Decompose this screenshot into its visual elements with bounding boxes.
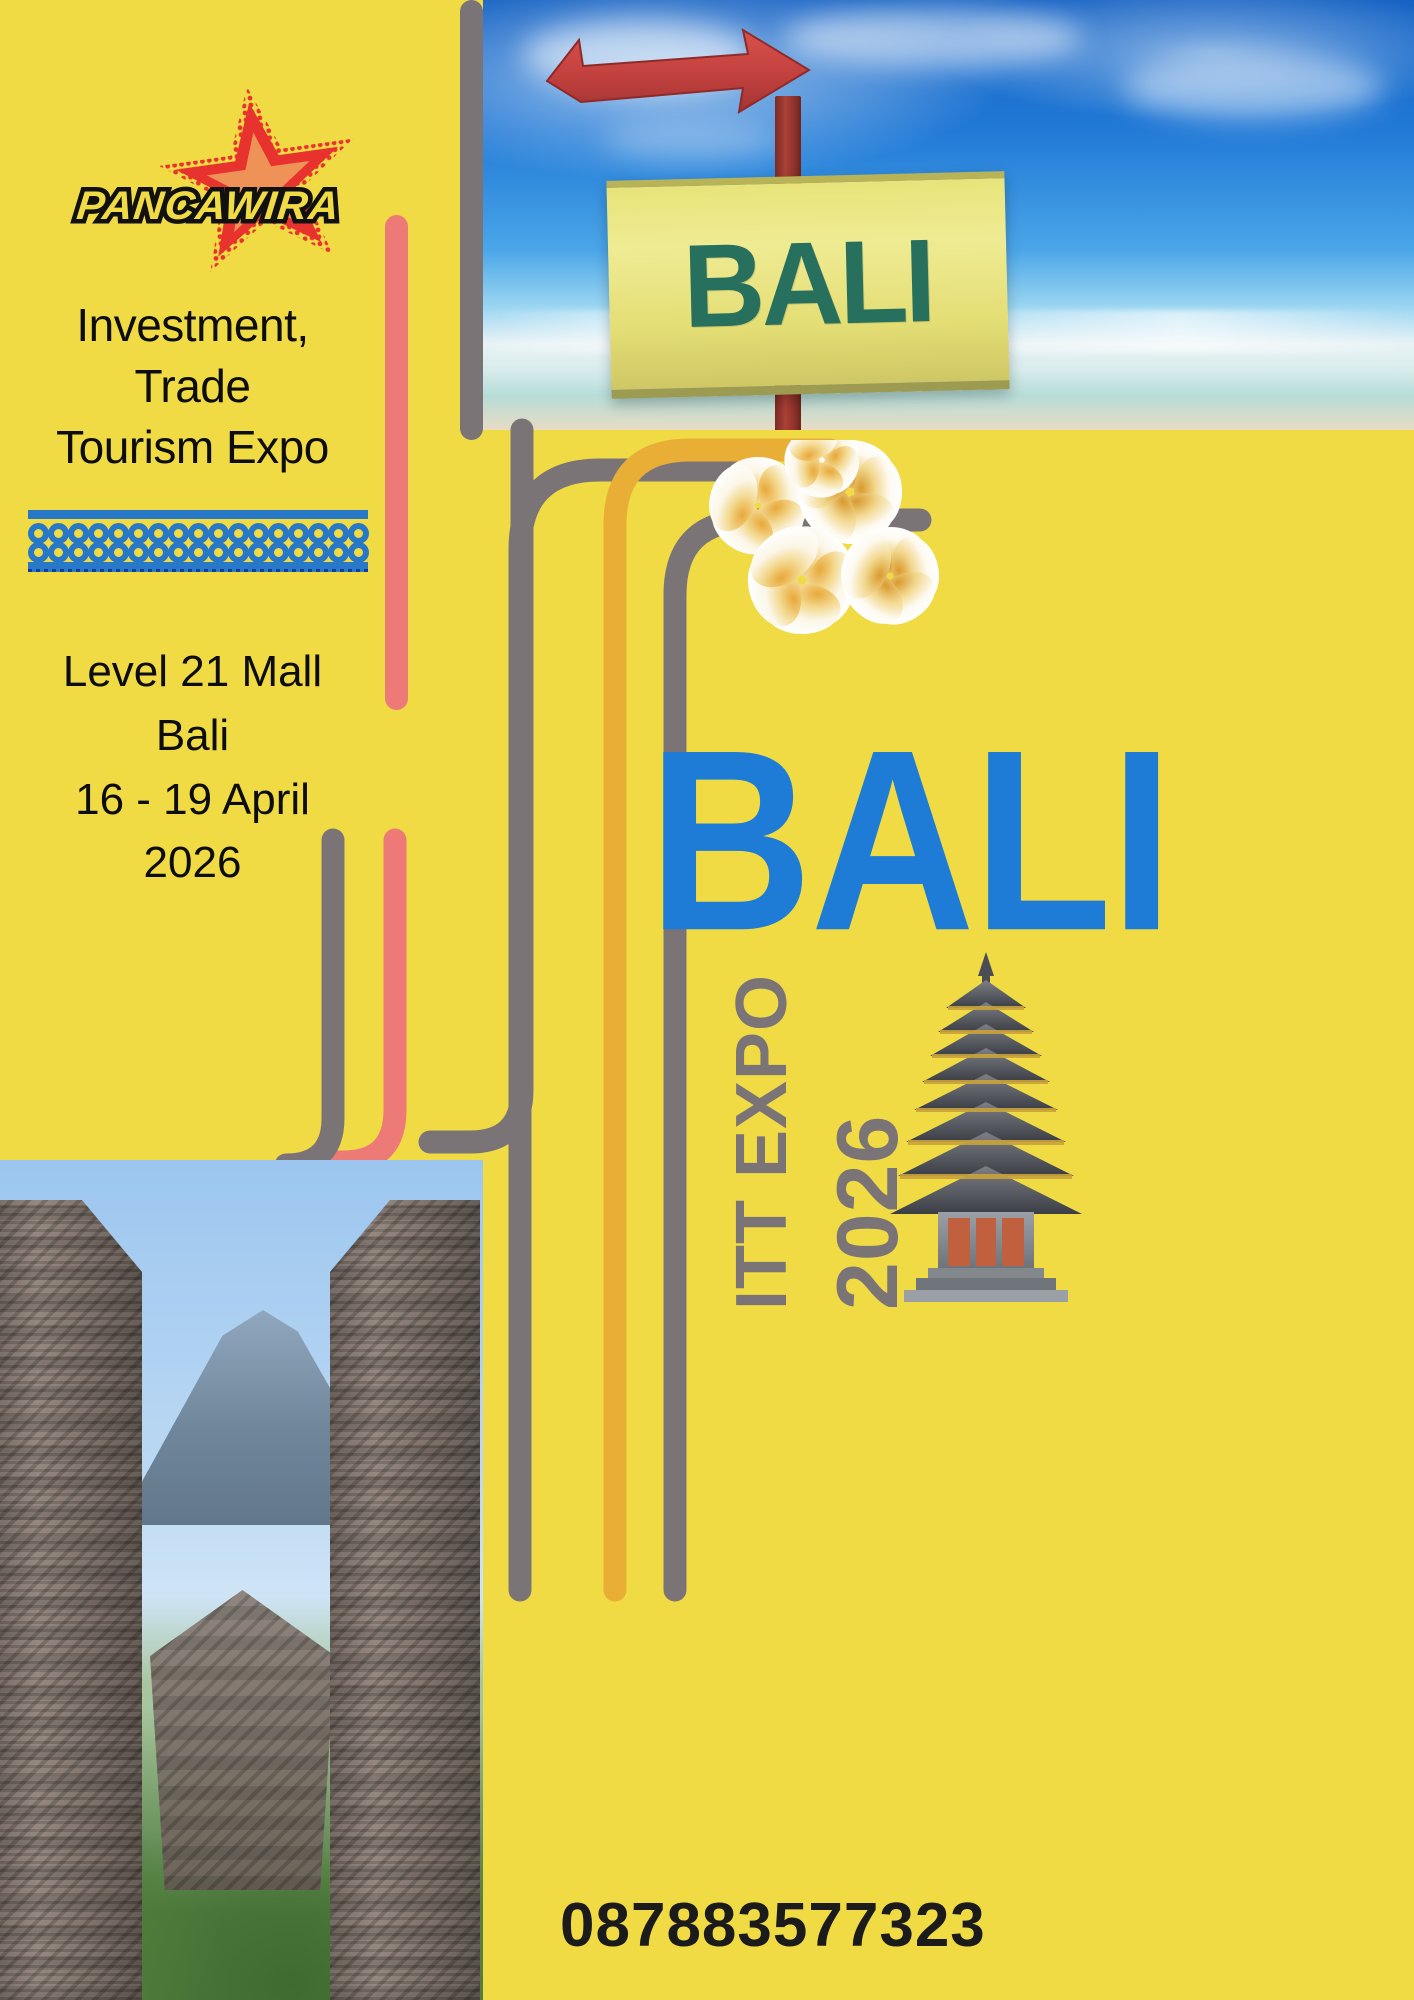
signboard-text: BALI: [682, 222, 934, 346]
pattern-ring: [148, 542, 169, 563]
pattern-ring: [328, 523, 349, 544]
star-icon: [160, 80, 360, 280]
temple-gate-photo: [0, 1160, 483, 2000]
cloud-shape: [603, 120, 783, 160]
brand-wordmark: PANCAWIRA: [75, 184, 343, 229]
headline-block: Investment, Trade Tourism Expo: [0, 295, 385, 479]
temple-gate-left: [0, 1200, 142, 2000]
pattern-checker-strip: [28, 565, 368, 572]
contact-phone-number[interactable]: 087883577323: [560, 1890, 986, 1961]
pattern-ring: [108, 542, 129, 563]
pattern-ring: [228, 523, 249, 544]
pattern-ring: [248, 542, 269, 563]
poster-canvas: BALI: [0, 0, 1414, 2000]
pattern-ring: [88, 523, 109, 544]
pattern-ring: [28, 542, 49, 563]
pattern-ring: [328, 542, 349, 563]
temple-shrine-shape: [150, 1590, 335, 1890]
pattern-ring: [188, 542, 209, 563]
balinese-pagoda-icon: [876, 950, 1096, 1310]
cloud-shape: [783, 8, 1083, 68]
pattern-ring: [128, 523, 149, 544]
pattern-ring: [68, 523, 89, 544]
frangipani-flowers-icon: [672, 440, 952, 690]
big-bali-title: BALI: [648, 712, 1171, 970]
decorative-pattern-band: [28, 510, 368, 572]
pattern-ring: [208, 523, 229, 544]
pattern-ring: [288, 542, 309, 563]
pattern-ring: [168, 523, 189, 544]
cloud-shape: [1123, 55, 1383, 120]
pattern-ring: [148, 523, 169, 544]
pattern-ring: [248, 523, 269, 544]
pattern-ring: [208, 542, 229, 563]
pattern-ring: [88, 542, 109, 563]
carving-texture: [0, 1200, 142, 2000]
carving-texture: [330, 1200, 480, 2000]
bali-signboard: BALI: [606, 171, 1009, 399]
red-arrow-sign-icon: [543, 26, 813, 118]
pattern-ring: [108, 523, 129, 544]
brand-logo[interactable]: PANCAWIRA: [40, 80, 390, 290]
beach-signpost-photo: BALI: [483, 0, 1414, 430]
pattern-ring: [308, 523, 329, 544]
pattern-ring: [168, 542, 189, 563]
pattern-ring: [268, 542, 289, 563]
pattern-ring: [348, 542, 369, 563]
pattern-ring: [48, 542, 69, 563]
pattern-ring: [128, 542, 149, 563]
pattern-ring: [28, 523, 49, 544]
temple-gate-right: [330, 1200, 480, 2000]
venue-block: Level 21 Mall Bali 16 - 19 April 2026: [0, 640, 385, 895]
pattern-ring: [188, 523, 209, 544]
pattern-ring: [348, 523, 369, 544]
pattern-ring: [308, 542, 329, 563]
venue-line-2: Bali: [0, 704, 385, 768]
venue-line-4: 2026: [0, 831, 385, 895]
venue-line-3: 16 - 19 April: [0, 768, 385, 832]
carving-texture: [150, 1590, 335, 1890]
rail-gray-top-right: [460, 0, 483, 440]
pattern-ring: [288, 523, 309, 544]
pattern-ring: [48, 523, 69, 544]
pattern-ring: [268, 523, 289, 544]
pattern-ring-row: [28, 542, 368, 563]
venue-line-1: Level 21 Mall: [0, 640, 385, 704]
headline-line-1: Investment,: [0, 295, 385, 356]
pattern-ring: [228, 542, 249, 563]
pattern-ring-row: [28, 523, 368, 544]
headline-line-2: Trade: [0, 356, 385, 417]
pattern-bar-top: [28, 510, 368, 519]
headline-line-3: Tourism Expo: [0, 417, 385, 478]
pattern-ring: [68, 542, 89, 563]
